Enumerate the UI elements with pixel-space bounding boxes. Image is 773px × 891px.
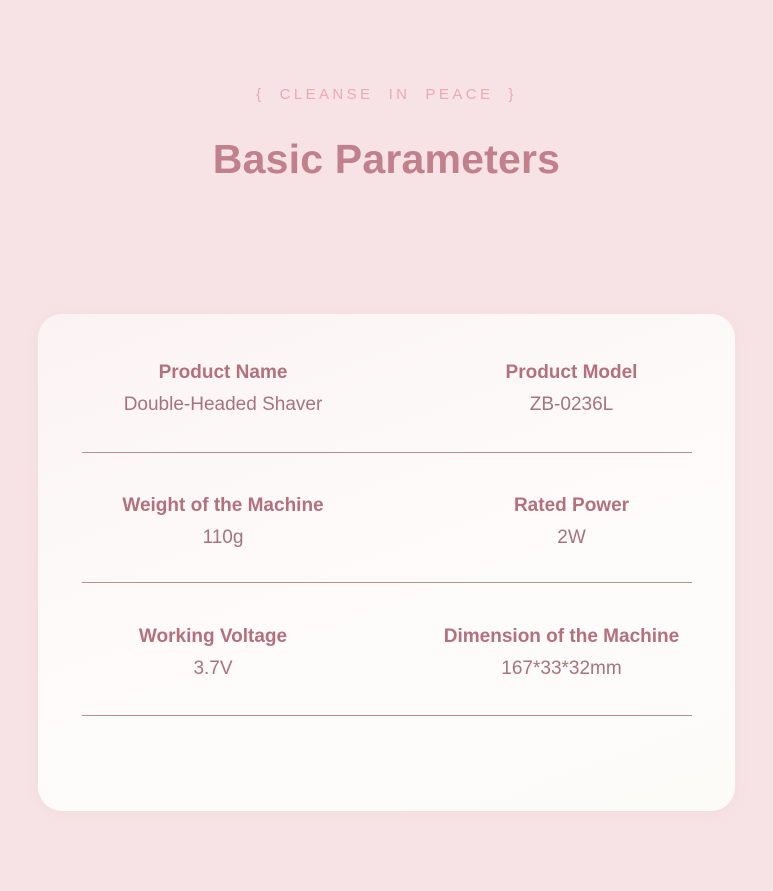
spec-value: ZB-0236L <box>408 394 735 416</box>
spec-label: Product Name <box>38 362 408 384</box>
spec-label: Rated Power <box>408 495 735 517</box>
spec-cell-product-name: Product Name Double-Headed Shaver <box>38 362 408 416</box>
specifications-card: Product Name Double-Headed Shaver Produc… <box>38 314 735 811</box>
spec-label: Working Voltage <box>38 626 388 648</box>
spec-label: Dimension of the Machine <box>388 626 735 648</box>
row-divider <box>82 715 692 716</box>
spec-value: Double-Headed Shaver <box>38 394 408 416</box>
spec-cell-weight: Weight of the Machine 110g <box>38 495 408 549</box>
spec-value: 2W <box>408 527 735 549</box>
page-title: Basic Parameters <box>0 136 773 183</box>
spec-value: 3.7V <box>38 658 388 680</box>
spec-cell-working-voltage: Working Voltage 3.7V <box>38 626 388 680</box>
spec-label: Product Model <box>408 362 735 384</box>
table-row: Working Voltage 3.7V Dimension of the Ma… <box>38 578 735 710</box>
tagline: { CLEANSE IN PEACE } <box>0 86 773 103</box>
spec-value: 110g <box>38 527 408 549</box>
spec-value: 167*33*32mm <box>388 658 735 680</box>
table-row: Weight of the Machine 110g Rated Power 2… <box>38 446 735 578</box>
spec-cell-rated-power: Rated Power 2W <box>408 495 735 549</box>
spec-table: Product Name Double-Headed Shaver Produc… <box>38 314 735 710</box>
page-header: { CLEANSE IN PEACE } Basic Parameters <box>0 0 773 183</box>
spec-label: Weight of the Machine <box>38 495 408 517</box>
table-row: Product Name Double-Headed Shaver Produc… <box>38 314 735 446</box>
spec-cell-product-model: Product Model ZB-0236L <box>408 362 735 416</box>
spec-cell-dimension: Dimension of the Machine 167*33*32mm <box>388 626 735 680</box>
